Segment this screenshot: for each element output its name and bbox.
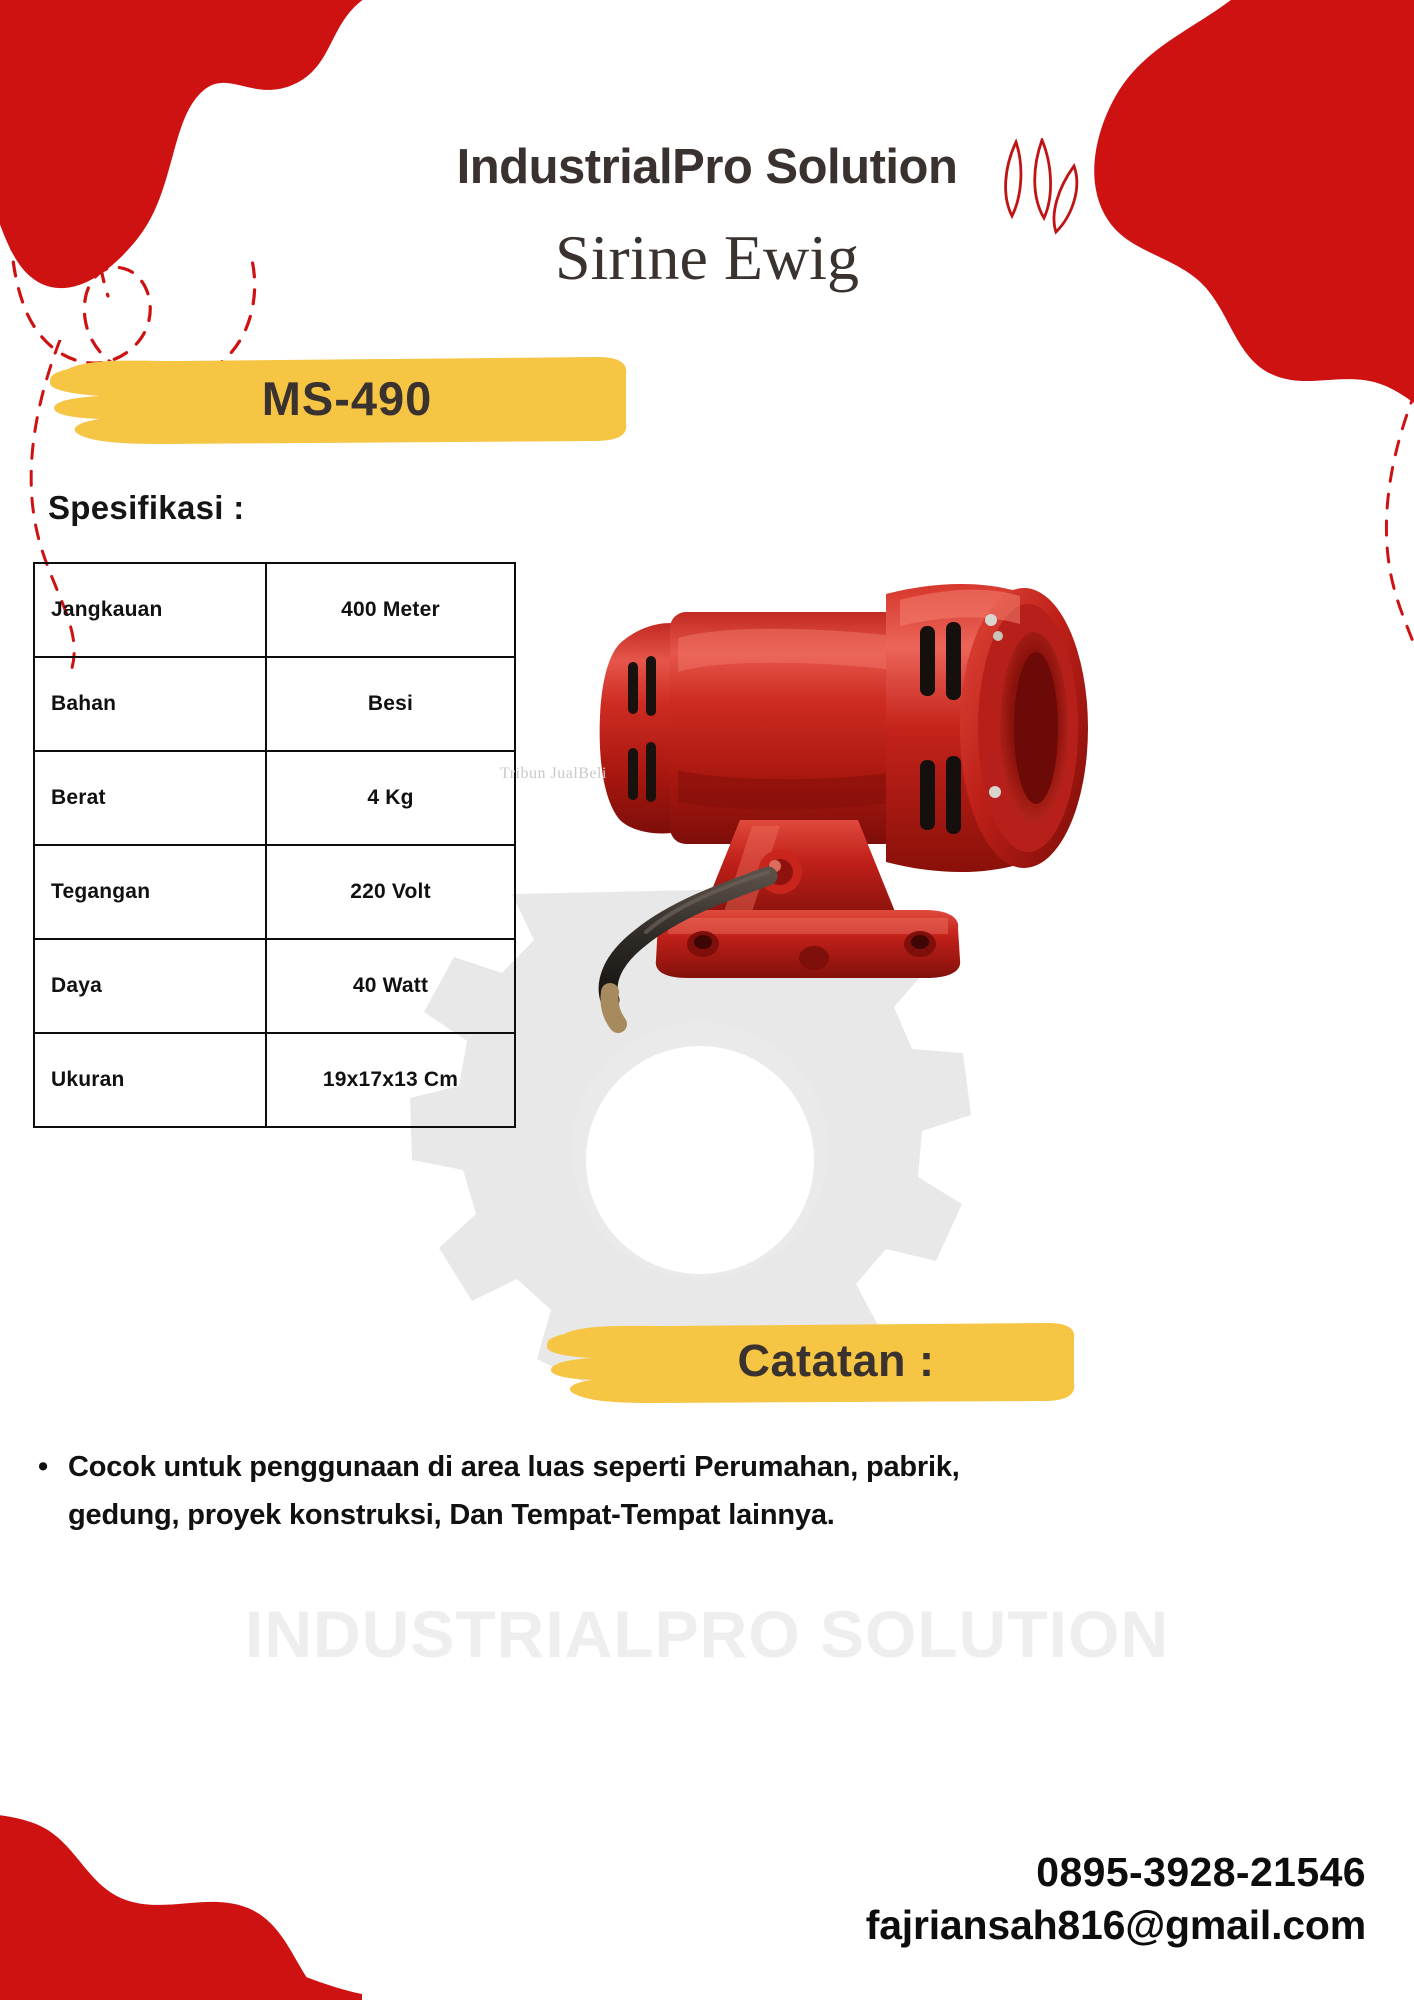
note-badge: Catatan : xyxy=(536,1318,1076,1404)
list-item: • Cocok untuk penggunaan di area luas se… xyxy=(38,1444,1068,1540)
brand-title: IndustrialPro Solution xyxy=(0,139,1414,195)
model-badge: MS-490 xyxy=(38,352,628,445)
red-blob-bottom-left-shape xyxy=(0,1700,420,2000)
table-row: Tegangan 220 Volt xyxy=(34,845,515,939)
table-row: Bahan Besi xyxy=(34,657,515,751)
spec-table-body: Jangkauan 400 Meter Bahan Besi Berat 4 K… xyxy=(34,563,515,1127)
note-badge-label: Catatan : xyxy=(536,1318,1076,1404)
spec-value: 400 Meter xyxy=(266,563,515,657)
spec-value: 19x17x13 Cm xyxy=(266,1033,515,1127)
red-blob-top-right-shape xyxy=(1000,0,1414,420)
spec-value: 40 Watt xyxy=(266,939,515,1033)
table-row: Berat 4 Kg xyxy=(34,751,515,845)
table-row: Ukuran 19x17x13 Cm xyxy=(34,1033,515,1127)
spec-value: 220 Volt xyxy=(266,845,515,939)
table-row: Jangkauan 400 Meter xyxy=(34,563,515,657)
contact-email[interactable]: fajriansah816@gmail.com xyxy=(866,1902,1366,1949)
spec-table: Jangkauan 400 Meter Bahan Besi Berat 4 K… xyxy=(33,562,516,1128)
spec-value: Besi xyxy=(266,657,515,751)
dashed-line-right-shape xyxy=(1320,390,1414,720)
bullet-icon: • xyxy=(38,1444,68,1492)
table-row: Daya 40 Watt xyxy=(34,939,515,1033)
spec-label: Tegangan xyxy=(34,845,266,939)
contact-phone[interactable]: 0895-3928-21546 xyxy=(866,1849,1366,1896)
red-blob-bottom-accent-shape xyxy=(104,1860,364,2000)
note-text: Cocok untuk penggunaan di area luas sepe… xyxy=(68,1444,1068,1540)
photo-source-watermark: Tribun JualBeli xyxy=(500,765,607,783)
spec-label: Jangkauan xyxy=(34,563,266,657)
spec-label: Berat xyxy=(34,751,266,845)
spec-label: Daya xyxy=(34,939,266,1033)
spec-value: 4 Kg xyxy=(266,751,515,845)
product-title: Sirine Ewig xyxy=(0,221,1414,295)
spec-heading: Spesifikasi : xyxy=(48,489,245,527)
spec-label: Ukuran xyxy=(34,1033,266,1127)
spec-label: Bahan xyxy=(34,657,266,751)
flyer-page: INDUSTRIALPRO SOLUTION IndustrialPro Sol… xyxy=(0,0,1414,2000)
model-badge-label: MS-490 xyxy=(38,352,628,445)
note-list: • Cocok untuk penggunaan di area luas se… xyxy=(38,1444,1068,1540)
contact-block: 0895-3928-21546 fajriansah816@gmail.com xyxy=(866,1849,1366,1949)
product-image xyxy=(528,520,1108,1040)
brand-watermark-text: INDUSTRIALPRO SOLUTION xyxy=(0,1596,1414,1672)
